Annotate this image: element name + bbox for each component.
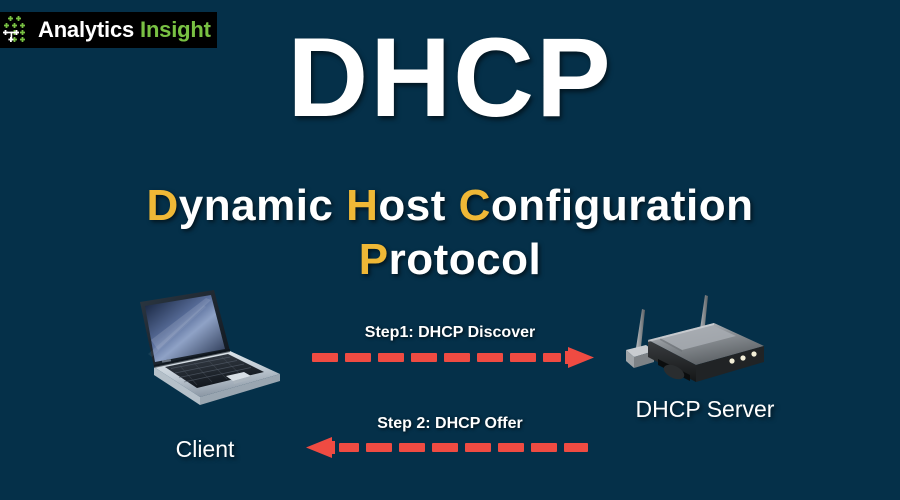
subtitle-initial-p: P <box>359 235 389 284</box>
client-label: Client <box>120 436 290 463</box>
subtitle-initial-c: C <box>459 181 491 230</box>
arrow-dhcp-offer <box>306 437 588 459</box>
subtitle-initial-d: D <box>146 181 178 230</box>
subtitle-line-2: Protocol <box>0 238 900 282</box>
dhcp-infographic: AnalyticsInsight DHCP Dynamic Host Confi… <box>0 0 900 500</box>
subtitle-line-1: Dynamic Host Configuration <box>0 184 900 228</box>
led-indicator <box>740 355 745 360</box>
page-title: DHCP <box>0 22 900 134</box>
antenna-left <box>636 309 645 348</box>
step-1-label: Step1: DHCP Discover <box>300 324 600 342</box>
step-2-label: Step 2: DHCP Offer <box>300 415 600 433</box>
subtitle-word-dynamic: ynamic <box>179 181 346 230</box>
arrow-dhcp-discover <box>312 347 594 369</box>
led-indicator <box>751 351 756 356</box>
dhcp-server-label: DHCP Server <box>600 396 810 423</box>
subtitle-word-host: ost <box>378 181 458 230</box>
wireless-router-icon <box>618 288 783 393</box>
subtitle-word-protocol: rotocol <box>389 235 542 284</box>
subtitle-initial-h: H <box>346 181 378 230</box>
laptop-icon <box>118 288 298 418</box>
subtitle-word-configuration: onfiguration <box>491 181 754 230</box>
led-indicator <box>729 358 734 363</box>
